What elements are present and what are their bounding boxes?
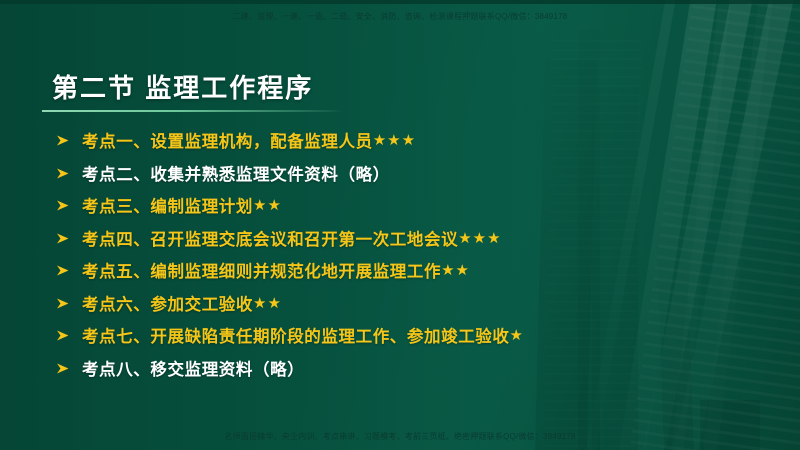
list-item: 考点一、设置监理机构，配备监理人员 ★★★: [56, 124, 756, 157]
difficulty-stars: ★★: [253, 196, 282, 214]
difficulty-stars: ★★: [441, 261, 470, 279]
top-edge-bar: [0, 0, 800, 4]
header-promo-text: 二建、监理、一建、一造、二造、安全、消防、咨询、检测课程押题联系QQ/微信：38…: [0, 11, 800, 22]
list-item-label: 考点六、参加交工验收: [82, 291, 253, 315]
list-item: 考点四、召开监理交底会议和召开第一次工地会议 ★★★: [56, 222, 756, 255]
list-item: 考点七、开展缺陷责任期阶段的监理工作、参加竣工验收 ★: [56, 319, 756, 352]
arrow-bullet-icon: [56, 231, 82, 245]
title-block: 第二节 监理工作程序: [52, 72, 342, 112]
arrow-bullet-icon: [56, 296, 82, 310]
list-item-label: 考点一、设置监理机构，配备监理人员: [82, 128, 373, 152]
list-item-label: 考点二、收集并熟悉监理文件资料（略）: [82, 161, 390, 185]
arrow-bullet-icon: [56, 263, 82, 277]
list-item-label: 考点七、开展缺陷责任期阶段的监理工作、参加竣工验收: [82, 323, 510, 347]
list-item: 考点六、参加交工验收 ★★: [56, 287, 756, 320]
list-item-label: 考点五、编制监理细则并规范化地开展监理工作: [82, 258, 441, 282]
arrow-bullet-icon: [56, 133, 82, 147]
footer-promo-text: 名师面授精华、央企内训、考点串讲、习题模考、考前三页纸、绝密押题联系QQ/微信：…: [0, 431, 800, 442]
arrow-bullet-icon: [56, 361, 82, 375]
list-item: 考点三、编制监理计划 ★★: [56, 189, 756, 222]
arrow-bullet-icon: [56, 166, 82, 180]
difficulty-stars: ★★★: [373, 131, 416, 149]
list-item-label: 考点八、移交监理资料（略）: [82, 356, 304, 380]
list-item: 考点二、收集并熟悉监理文件资料（略）: [56, 157, 756, 190]
arrow-bullet-icon: [56, 198, 82, 212]
key-points-list: 考点一、设置监理机构，配备监理人员 ★★★ 考点二、收集并熟悉监理文件资料（略）…: [56, 124, 756, 384]
presentation-slide: 二建、监理、一建、一造、二造、安全、消防、咨询、检测课程押题联系QQ/微信：38…: [0, 0, 800, 450]
list-item: 考点五、编制监理细则并规范化地开展监理工作 ★★: [56, 254, 756, 287]
title-underline: [42, 110, 342, 112]
list-item-label: 考点四、召开监理交底会议和召开第一次工地会议: [82, 226, 458, 250]
arrow-bullet-icon: [56, 328, 82, 342]
page-title: 第二节 监理工作程序: [52, 72, 342, 104]
list-item: 考点八、移交监理资料（略）: [56, 352, 756, 385]
difficulty-stars: ★: [510, 326, 524, 344]
list-item-label: 考点三、编制监理计划: [82, 193, 253, 217]
difficulty-stars: ★★: [253, 294, 282, 312]
difficulty-stars: ★★★: [458, 229, 501, 247]
